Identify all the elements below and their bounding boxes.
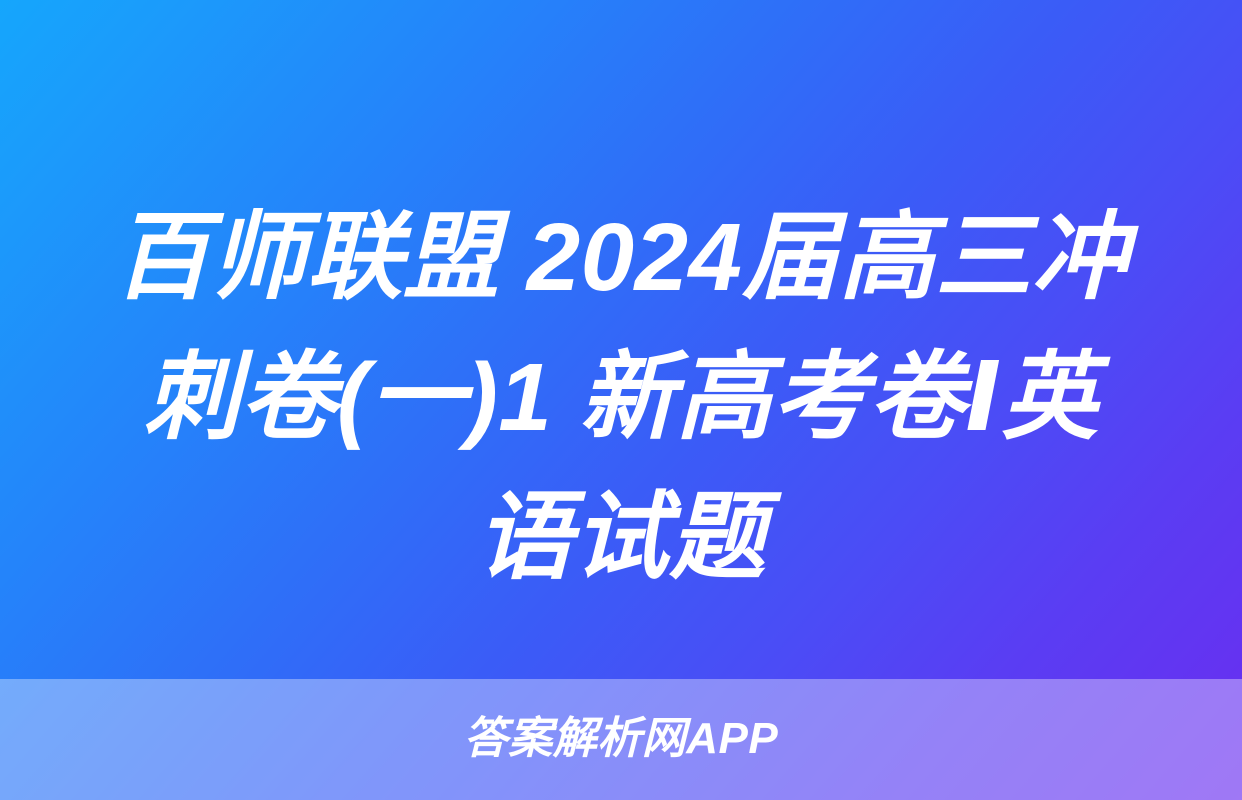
poster-canvas: 百师联盟 2024届高三冲 刺卷(一)1 新高考卷Ⅰ英 语试题 答案解析网APP: [0, 0, 1242, 800]
poster-title-line-1: 百师联盟 2024届高三冲: [38, 188, 1204, 328]
watermark-band: 答案解析网APP: [0, 679, 1242, 800]
title-block: 百师联盟 2024届高三冲 刺卷(一)1 新高考卷Ⅰ英 语试题: [0, 178, 1242, 618]
watermark-label: 答案解析网APP: [464, 717, 778, 761]
poster-title-line-3: 语试题: [38, 468, 1204, 608]
poster-title-line-2: 刺卷(一)1 新高考卷Ⅰ英: [38, 328, 1204, 468]
